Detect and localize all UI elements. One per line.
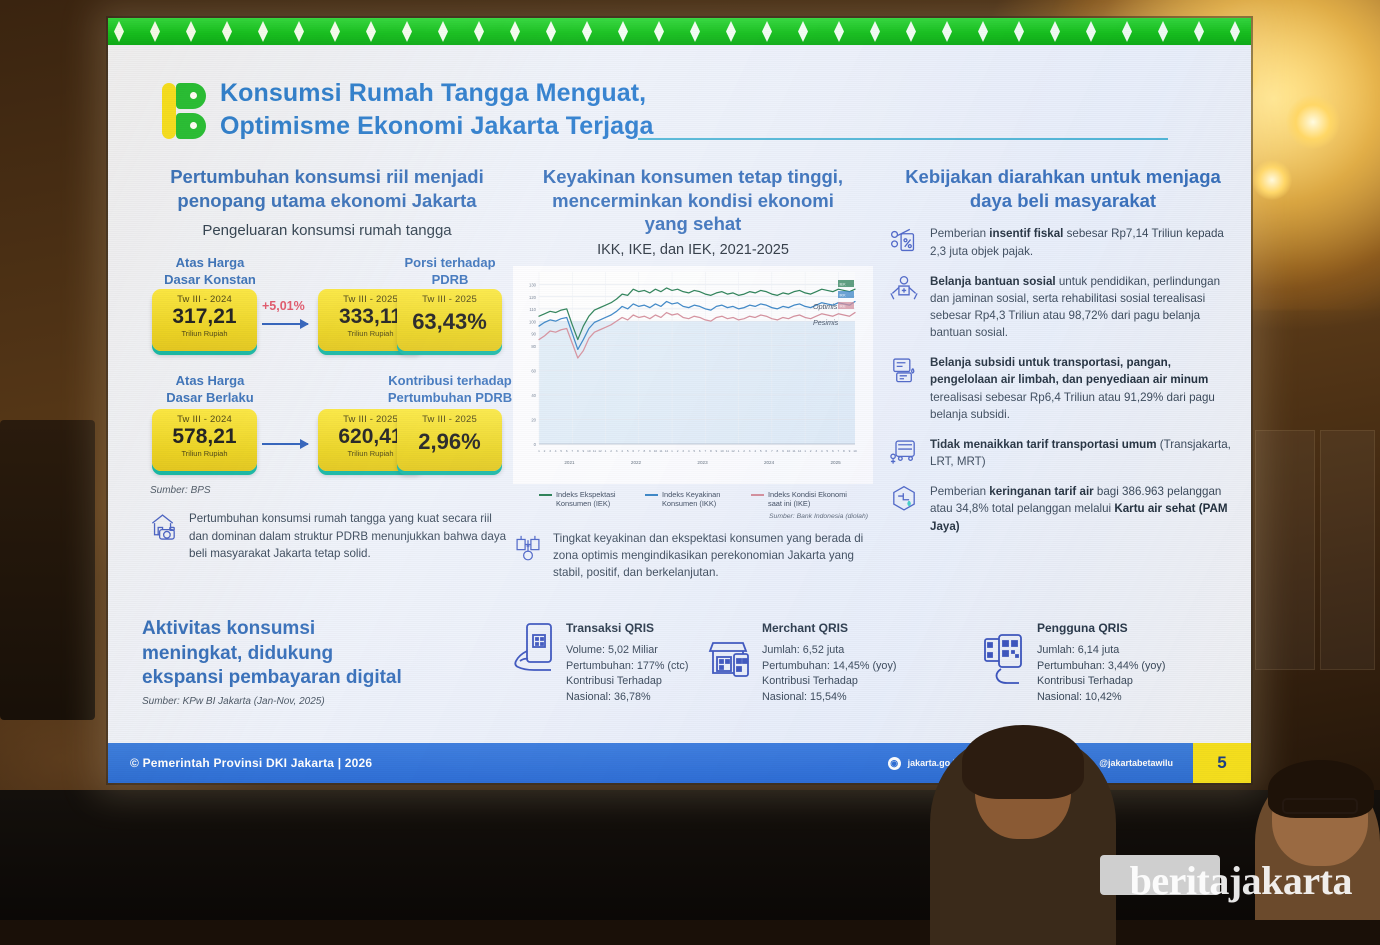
decorative-top-band (108, 18, 1251, 45)
storefront-qris-icon (707, 631, 755, 687)
bus-icon (888, 436, 920, 468)
svg-text:2: 2 (544, 449, 546, 453)
svg-text:8: 8 (577, 449, 579, 453)
house-camera-icon (148, 510, 180, 542)
left-source: Sumber: BPS (150, 485, 512, 496)
stat-lines: Volume: 5,02 Miliar Pertumbuhan: 177% (c… (566, 643, 688, 706)
svg-text:4: 4 (821, 449, 823, 453)
title-underline (638, 138, 1168, 140)
left-note-text: Pertumbuhan konsumsi rumah tangga yang k… (189, 510, 512, 562)
svg-text:9: 9 (716, 449, 718, 453)
chandelier-bulb (1252, 160, 1292, 200)
svg-text:1: 1 (671, 449, 673, 453)
svg-text:8: 8 (643, 449, 645, 453)
svg-text:80: 80 (531, 344, 536, 349)
policy-text: Pemberian keringanan tarif air bagi 386.… (930, 483, 1238, 534)
svg-text:1: 1 (804, 449, 806, 453)
svg-text:IEK: IEK (840, 282, 847, 286)
bottom-source: Sumber: KPw BI Jakarta (Jan-Nov, 2025) (142, 696, 472, 707)
balance-scale-icon (512, 530, 544, 562)
projected-slide: Konsumsi Rumah Tangga Menguat, Optimisme… (108, 18, 1251, 783)
svg-text:3: 3 (549, 449, 551, 453)
svg-text:12: 12 (598, 449, 602, 453)
stat-lines: Jumlah: 6,52 juta Pertumbuhan: 14,45% (y… (762, 643, 896, 706)
svg-text:100: 100 (529, 319, 537, 324)
legend-item: Indeks Ekspektasi Konsumen (IEK) (539, 490, 635, 509)
stat-lines: Jumlah: 6,14 juta Pertumbuhan: 3,44% (yo… (1037, 643, 1165, 706)
svg-text:130: 130 (529, 283, 537, 288)
page-title-line1: Konsumsi Rumah Tangga Menguat, (220, 77, 880, 110)
svg-text:40: 40 (531, 393, 536, 398)
svg-text:3: 3 (815, 449, 817, 453)
policy-text: Belanja subsidi untuk transportasi, pang… (930, 354, 1238, 423)
middle-column-heading: Keyakinan konsumen tetap tinggi, mencerm… (508, 165, 878, 236)
legend-swatch-ike (751, 494, 764, 496)
svg-text:4: 4 (754, 449, 756, 453)
middle-column: Keyakinan konsumen tetap tinggi, mencerm… (508, 165, 878, 582)
policy-item-transportasi: Tidak menaikkan tarif transportasi umum … (888, 436, 1238, 470)
svg-text:7: 7 (638, 449, 640, 453)
label-harga-konstan: Atas Harga Dasar Konstan (150, 255, 270, 288)
svg-text:6: 6 (832, 449, 834, 453)
right-column: Kebijakan diarahkan untuk menjaga daya b… (888, 165, 1238, 535)
svg-text:1: 1 (605, 449, 607, 453)
svg-text:12: 12 (731, 449, 735, 453)
growth-arrow-icon (262, 443, 308, 445)
svg-text:Optimis: Optimis (813, 302, 838, 311)
svg-text:IKE: IKE (840, 304, 847, 308)
policy-item-subsidi: Belanja subsidi untuk transportasi, pang… (888, 354, 1238, 423)
legend-item: Indeks Keyakinan Konsumen (IKK) (645, 490, 741, 509)
label-harga-berlaku: Atas Harga Dasar Berlaku (150, 373, 270, 406)
svg-text:1: 1 (738, 449, 740, 453)
svg-text:120: 120 (529, 295, 537, 300)
legend-label-iek: Indeks Ekspektasi Konsumen (IEK) (556, 490, 635, 509)
policy-text: Tidak menaikkan tarif transportasi umum … (930, 436, 1238, 470)
card-kontribusi-pdrb: Tw III - 2025 2,96% (397, 409, 502, 471)
svg-text:8: 8 (710, 449, 712, 453)
left-subtitle: Pengeluaran konsumsi rumah tangga (142, 222, 512, 239)
left-column: Pertumbuhan konsumsi riil menjadi penopa… (142, 165, 512, 563)
svg-text:10: 10 (654, 449, 658, 453)
svg-text:9: 9 (849, 449, 851, 453)
social-assistance-icon (888, 273, 920, 305)
legend-swatch-iek (539, 494, 552, 496)
svg-text:4: 4 (555, 449, 557, 453)
social-label: @jakartabetawilu (1099, 758, 1173, 768)
wall-panel (1255, 430, 1315, 670)
svg-text:2024: 2024 (764, 460, 775, 465)
legend-item: Indeks Kondisi Ekonomi saat ini (IKE) (751, 490, 847, 509)
svg-text:9: 9 (649, 449, 651, 453)
svg-text:IKK: IKK (840, 293, 847, 297)
svg-text:10: 10 (587, 449, 591, 453)
svg-text:6: 6 (699, 449, 701, 453)
svg-text:7: 7 (771, 449, 773, 453)
svg-text:3: 3 (682, 449, 684, 453)
svg-text:7: 7 (704, 449, 706, 453)
stat-title: Pengguna QRIS (1037, 621, 1165, 635)
policy-text: Belanja bantuan sosial untuk pendidikan,… (930, 273, 1238, 342)
svg-text:20: 20 (531, 418, 536, 423)
stat-title: Transaksi QRIS (566, 621, 688, 635)
globe-icon: ◉ (888, 757, 901, 770)
bottom-heading: Aktivitas konsumsi meningkat, didukung e… (142, 617, 472, 691)
svg-text:1: 1 (538, 449, 540, 453)
consumer-confidence-chart: 02040608090100110120130IEKIKKIKEOptimisP… (513, 266, 873, 484)
svg-text:5: 5 (627, 449, 629, 453)
svg-text:6: 6 (765, 449, 767, 453)
svg-text:10: 10 (787, 449, 791, 453)
svg-text:7: 7 (838, 449, 840, 453)
label-porsi-pdrb: Porsi terhadap PDRB (390, 255, 510, 288)
svg-text:0: 0 (534, 442, 537, 447)
chart-source: Sumber: Bank Indonesia (diolah) (508, 513, 868, 520)
svg-text:6: 6 (632, 449, 634, 453)
legend-swatch-ikk (645, 494, 658, 496)
jakarta-logo-icon (160, 81, 206, 141)
svg-text:12: 12 (665, 449, 669, 453)
stat-pengguna-qris: Pengguna QRIS Jumlah: 6,14 juta Pertumbu… (1037, 621, 1251, 706)
svg-text:5: 5 (826, 449, 828, 453)
middle-note: Tingkat keyakinan dan ekspektasi konsume… (512, 530, 878, 582)
water-tap-icon (888, 483, 920, 515)
svg-text:11: 11 (792, 449, 795, 453)
svg-text:10: 10 (853, 449, 857, 453)
left-note: Pertumbuhan konsumsi rumah tangga yang k… (148, 510, 512, 562)
stat-merchant-qris: Merchant QRIS Jumlah: 6,52 juta Pertumbu… (762, 621, 1012, 706)
growth-badge: +5,01% (262, 299, 305, 313)
svg-text:4: 4 (621, 449, 623, 453)
phone-hand-qris-icon (510, 621, 558, 677)
svg-text:2: 2 (743, 449, 745, 453)
right-column-heading: Kebijakan diarahkan untuk menjaga daya b… (888, 165, 1238, 212)
watermark: beritajakarta (1130, 857, 1352, 904)
svg-text:10: 10 (720, 449, 724, 453)
svg-text:11: 11 (726, 449, 729, 453)
svg-text:Pesimis: Pesimis (813, 318, 839, 327)
svg-text:11: 11 (659, 449, 662, 453)
middle-note-text: Tingkat keyakinan dan ekspektasi konsume… (553, 530, 878, 582)
svg-text:4: 4 (688, 449, 690, 453)
svg-text:8: 8 (843, 449, 845, 453)
label-kontribusi-pdrb: Kontribusi terhadap Pertumbuhan PDRB (380, 373, 520, 406)
chandelier-bulb (1286, 95, 1340, 149)
policy-item-bantuan-sosial: Belanja bantuan sosial untuk pendidikan,… (888, 273, 1238, 342)
svg-text:2023: 2023 (697, 460, 708, 465)
stat-title: Merchant QRIS (762, 621, 896, 635)
svg-text:12: 12 (798, 449, 802, 453)
water-subsidy-icon (888, 354, 920, 386)
svg-text:5: 5 (560, 449, 562, 453)
footer-copyright: © Pemerintah Provinsi DKI Jakarta | 2026 (130, 756, 372, 770)
svg-text:7: 7 (571, 449, 573, 453)
chart-legend: Indeks Ekspektasi Konsumen (IEK) Indeks … (508, 490, 878, 509)
page-title: Konsumsi Rumah Tangga Menguat, Optimisme… (220, 77, 880, 142)
svg-text:2: 2 (810, 449, 812, 453)
svg-text:11: 11 (593, 449, 596, 453)
svg-text:2021: 2021 (564, 460, 575, 465)
legend-label-ike: Indeks Kondisi Ekonomi saat ini (IKE) (768, 490, 847, 509)
wall-panel (1320, 430, 1375, 670)
av-speaker (0, 420, 95, 720)
svg-text:3: 3 (616, 449, 618, 453)
policy-text: Pemberian insentif fiskal sebesar Rp7,14… (930, 225, 1238, 259)
eyeglasses-icon (1282, 798, 1358, 814)
svg-text:8: 8 (777, 449, 779, 453)
svg-text:110: 110 (529, 307, 536, 312)
left-column-heading: Pertumbuhan konsumsi riil menjadi penopa… (142, 165, 512, 212)
page-number: 5 (1193, 743, 1251, 783)
svg-text:2: 2 (677, 449, 679, 453)
card-konstan-2024: Tw III - 2024 317,21 Triliun Rupiah (152, 289, 257, 351)
svg-text:2022: 2022 (631, 460, 642, 465)
svg-text:9: 9 (582, 449, 584, 453)
svg-text:2025: 2025 (830, 460, 841, 465)
qr-scan-icon (980, 631, 1028, 687)
svg-text:5: 5 (693, 449, 695, 453)
card-berlaku-2024: Tw III - 2024 578,21 Triliun Rupiah (152, 409, 257, 471)
svg-text:3: 3 (749, 449, 751, 453)
chart-svg: 02040608090100110120130IEKIKKIKEOptimisP… (513, 266, 873, 484)
card-porsi-pdrb: Tw III - 2025 63,43% (397, 289, 502, 351)
svg-text:9: 9 (782, 449, 784, 453)
policy-item-insentif-fiskal: Pemberian insentif fiskal sebesar Rp7,14… (888, 225, 1238, 259)
svg-text:2: 2 (610, 449, 612, 453)
svg-text:5: 5 (760, 449, 762, 453)
chart-subtitle: IKK, IKE, dan IEK, 2021-2025 (508, 242, 878, 258)
legend-label-ikk: Indeks Keyakinan Konsumen (IKK) (662, 490, 741, 509)
tax-discount-icon (888, 225, 920, 257)
person-hair-left (962, 725, 1084, 799)
bottom-section: Aktivitas konsumsi meningkat, didukung e… (142, 617, 1231, 737)
svg-text:90: 90 (531, 332, 536, 337)
growth-arrow-icon (262, 323, 308, 325)
svg-text:60: 60 (531, 369, 536, 374)
svg-text:6: 6 (566, 449, 568, 453)
policy-item-tarif-air: Pemberian keringanan tarif air bagi 386.… (888, 483, 1238, 534)
